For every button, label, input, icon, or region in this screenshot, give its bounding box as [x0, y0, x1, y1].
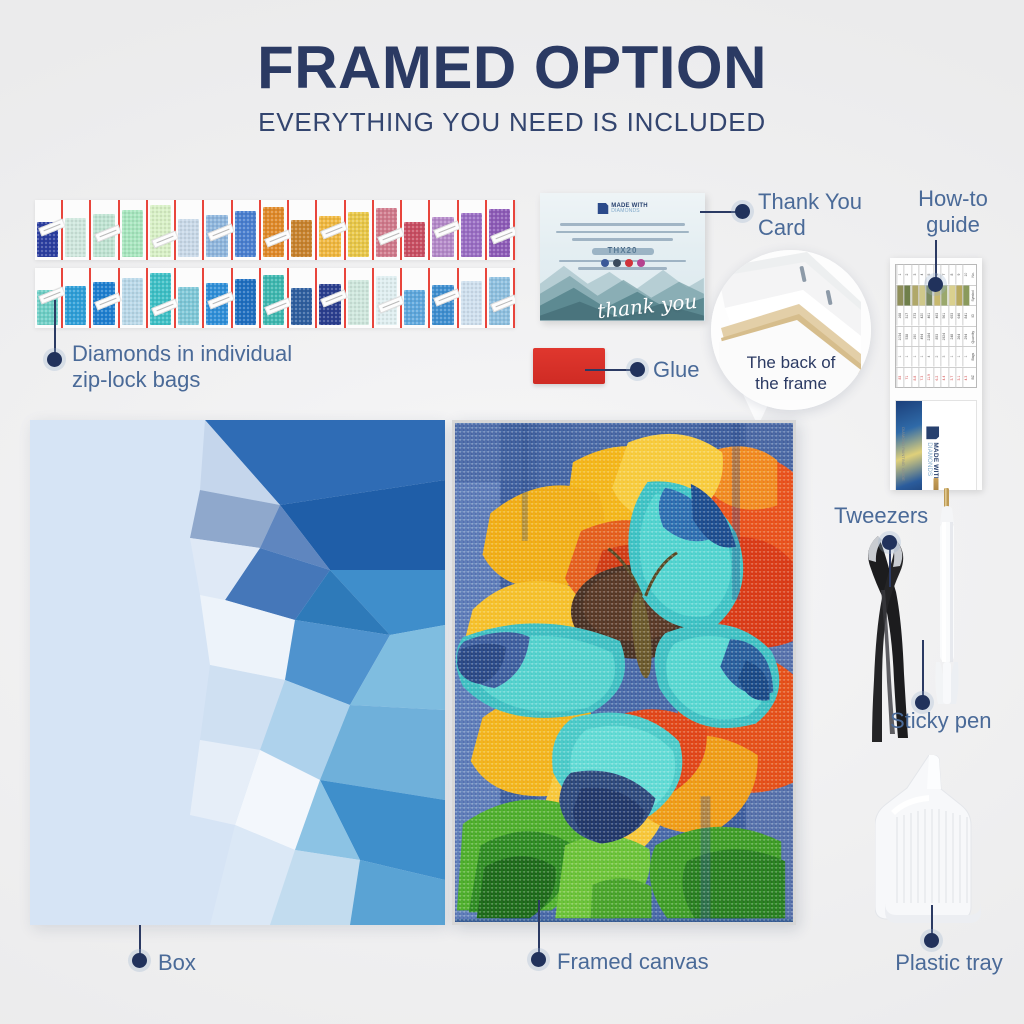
diamond-beads: [235, 211, 256, 257]
chart-cell-bags: 1: [911, 347, 918, 367]
chart-cell-bags: 4: [925, 347, 932, 367]
card-social-icons: [601, 259, 645, 267]
diamond-bag: [317, 268, 345, 328]
chart-col-title-bags: Bags: [970, 347, 976, 367]
diamond-beads: [404, 290, 425, 325]
callout-tweezers: Tweezers: [834, 503, 994, 529]
dot-framed-canvas: [531, 952, 546, 967]
diamond-bag: [289, 268, 317, 328]
chart-cell-symbol: [962, 286, 969, 306]
diamond-beads: [150, 205, 171, 257]
dot-plastic-tray: [924, 933, 939, 948]
chart-col-title-qty: Quantity: [970, 327, 976, 347]
sticky-pen: [930, 488, 964, 704]
leader-how-to-guide: [935, 240, 937, 282]
chart-cell-bz: 4.4: [940, 368, 947, 388]
instagram-icon: [637, 259, 645, 267]
diamond-bag: [63, 200, 91, 260]
diamond-gem-icon: [926, 426, 939, 439]
leader-diamonds: [54, 300, 56, 356]
diamond-bag: [91, 200, 119, 260]
dot-box: [132, 953, 147, 968]
diamond-bag: [120, 268, 148, 328]
thank-you-card: MADE WITH DIAMONDS THX20 thank you: [540, 193, 705, 321]
diamond-bag: [91, 268, 119, 328]
card-brand-line2: DIAMONDS: [611, 209, 647, 214]
chart-cell-bags: 1: [962, 347, 969, 367]
diamond-bag: [374, 200, 402, 260]
chart-cell-symbol: [911, 286, 918, 306]
callout-how-to-guide: How-to guide: [893, 186, 1013, 238]
plastic-tray: [875, 755, 999, 937]
framed-canvas: [452, 420, 796, 925]
canvas-diamond-grid: [455, 423, 793, 922]
guide-cover-artwork: [896, 401, 922, 490]
diamond-bag: [289, 200, 317, 260]
chart-col-title-symbol: Symbol: [970, 286, 976, 306]
chart-col-title-id: ID: [970, 306, 976, 326]
diamond-beads: [122, 210, 143, 257]
chart-cell-bz: 3.7: [948, 368, 955, 388]
diamond-beads: [65, 218, 86, 257]
facebook-icon: [601, 259, 609, 267]
leader-framed-canvas: [538, 900, 540, 956]
leader-thank-you-card: [700, 211, 740, 213]
chart-cell-bags: 1: [903, 347, 910, 367]
diamond-bag: [148, 268, 176, 328]
chart-cell-id: 373: [911, 306, 918, 326]
chart-data-row: 1111423111Bags: [896, 347, 976, 368]
diamond-bag: [120, 200, 148, 260]
diamond-beads: [150, 273, 171, 325]
guide-brand-line2: DIAMONDS: [926, 442, 932, 481]
leader-tweezers: [889, 545, 891, 587]
diamond-bag: [148, 200, 176, 260]
diamond-bag: [233, 268, 261, 328]
chart-cell-bz: 71: [903, 368, 910, 388]
diamond-beads: [461, 213, 482, 257]
card-brand-lockup: MADE WITH DIAMONDS: [597, 203, 647, 214]
chart-cell-qty: 190: [911, 327, 918, 347]
chart-cell-bz: 8.8: [911, 368, 918, 388]
diamond-beads: [178, 287, 199, 325]
card-website-pill: [592, 248, 654, 255]
dot-diamonds: [47, 352, 62, 367]
diamond-beads: [65, 286, 86, 325]
diamond-bag: [487, 200, 515, 260]
how-to-guide: 12345678910No.Symbol16831737342046146356…: [890, 258, 982, 490]
callout-sticky-pen: Sticky pen: [890, 708, 1024, 734]
callout-plastic-tray: Plastic tray: [869, 950, 1024, 976]
infographic-canvas: FRAMED OPTION EVERYTHING YOU NEED IS INC…: [0, 0, 1024, 1024]
leader-glue: [585, 369, 635, 371]
diamond-bag: [402, 200, 430, 260]
chart-cell-symbol: [903, 286, 910, 306]
page-title: FRAMED OPTION: [0, 36, 1024, 99]
chart-data-row: 103453819049421848531924248264294Quantit…: [896, 327, 976, 348]
chart-cell-id: 461: [925, 306, 932, 326]
diamond-beads: [291, 220, 312, 257]
diamond-bag: [261, 200, 289, 260]
diamond-bag: [233, 200, 261, 260]
callout-thank-you-card: Thank You Card: [758, 189, 898, 241]
leader-sticky-pen: [922, 640, 924, 700]
diamond-bag: [430, 268, 458, 328]
dot-thank-you-card: [735, 204, 750, 219]
diamond-beads: [178, 219, 199, 257]
diamond-bag: [346, 268, 374, 328]
diamond-bag: [346, 200, 374, 260]
chart-cell-no: 8: [948, 265, 955, 285]
chart-cell-no: 3: [911, 265, 918, 285]
chart-cell-id: 653: [948, 306, 955, 326]
diamond-bag: [35, 268, 63, 328]
glue-pad: [533, 348, 605, 384]
product-box: MADE WITH DIAMONDS: [30, 420, 445, 925]
chart-cell-bz: 11.9: [925, 368, 932, 388]
chart-cell-id: 317: [903, 306, 910, 326]
diamond-bag: [204, 268, 232, 328]
diamond-bag: [35, 200, 63, 260]
diamond-bag: [176, 268, 204, 328]
chart-cell-bags: 3: [940, 347, 947, 367]
chart-cell-qty: 2184: [925, 327, 932, 347]
diamond-bag-row-top: [35, 200, 515, 260]
chart-cell-qty: 538: [903, 327, 910, 347]
box-geometric-pattern: [30, 420, 445, 925]
callout-box: Box: [158, 950, 298, 976]
diamond-bag: [430, 200, 458, 260]
diamond-beads: [235, 279, 256, 325]
diamond-bag: [374, 268, 402, 328]
dot-glue: [630, 362, 645, 377]
callout-diamonds: Diamonds in individual zip-lock bags: [72, 341, 372, 393]
diamond-bag: [63, 268, 91, 328]
diamond-bag: [402, 268, 430, 328]
chart-col-title-bz: BZ: [970, 368, 976, 388]
diamond-beads: [122, 278, 143, 325]
chart-cell-symbol: [948, 286, 955, 306]
callout-framed-canvas: Framed canvas: [557, 949, 817, 975]
pinterest-icon: [625, 259, 633, 267]
diamond-beads: [461, 281, 482, 325]
guide-subtitle: DIAMOND PAINTING GUIDE: [901, 427, 906, 480]
chart-cell-qty: 294: [962, 327, 969, 347]
chart-cell-no: 2: [903, 265, 910, 285]
diamond-bag: [317, 200, 345, 260]
chart-cell-bz: 4.3: [962, 368, 969, 388]
diamond-bag: [261, 268, 289, 328]
chart-cell-bags: 1: [948, 347, 955, 367]
chart-cell-id: 841: [962, 306, 969, 326]
guide-brand-line1: MADE WITH: [932, 442, 939, 481]
twitter-icon: [613, 259, 621, 267]
diamond-gem-icon: [597, 203, 608, 214]
diamond-beads: [348, 280, 369, 325]
chart-data-row: 83718.87.311.96.24.43.73.14.3BZ: [896, 368, 976, 388]
diamond-bag: [459, 268, 487, 328]
canvas-artwork: [455, 423, 793, 922]
chart-cell-qty: 248: [948, 327, 955, 347]
chart-cell-qty: 1924: [940, 327, 947, 347]
diamond-bag: [204, 200, 232, 260]
diamond-beads: [404, 222, 425, 257]
dot-how-to-guide: [928, 277, 943, 292]
frame-back-bubble: The back of the frame: [711, 250, 871, 410]
chart-data-row: 168317373420461463561653646841ID: [896, 306, 976, 327]
dot-tweezers: [882, 535, 897, 550]
diamond-beads: [348, 212, 369, 257]
chart-col-title-no: No.: [970, 265, 976, 285]
guide-brand-lockup: MADE WITH DIAMONDS: [926, 426, 939, 481]
bubble-caption: The back of the frame: [711, 353, 871, 394]
diamond-bag-row-bottom: [35, 268, 515, 328]
diamond-beads: [291, 288, 312, 325]
diamond-bag: [459, 200, 487, 260]
chart-cell-id: 561: [940, 306, 947, 326]
diamond-bag: [176, 200, 204, 260]
guide-cover-panel: DIAMOND PAINTING GUIDE MADE WITH DIAMOND…: [895, 400, 977, 490]
diamond-bag: [487, 268, 515, 328]
page-subtitle: EVERYTHING YOU NEED IS INCLUDED: [0, 107, 1024, 138]
chart-cell-no: 10: [962, 265, 969, 285]
